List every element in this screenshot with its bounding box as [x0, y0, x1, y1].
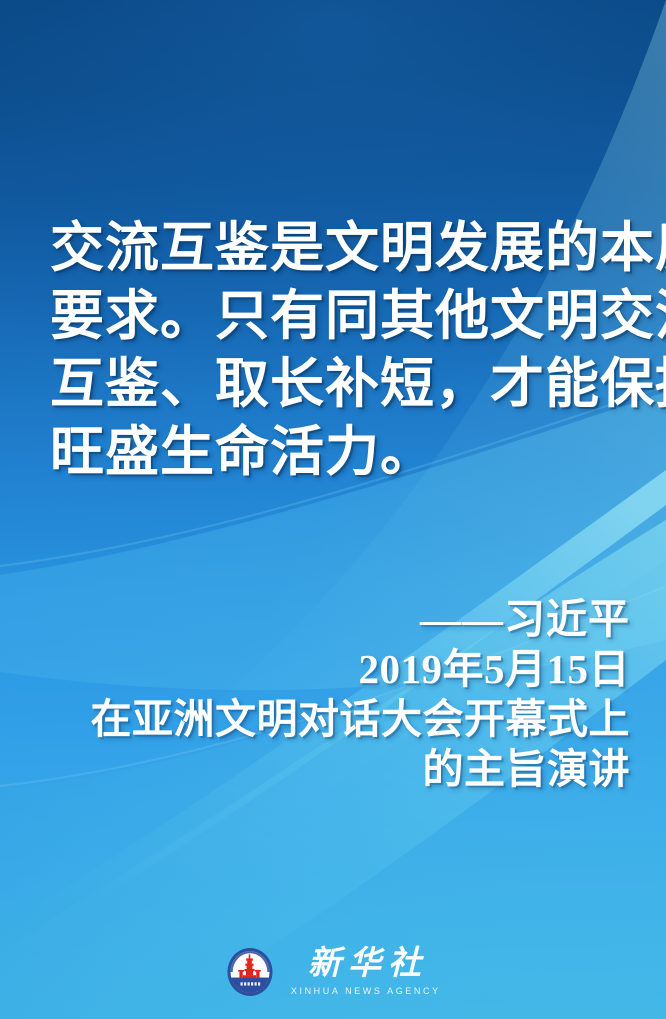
attribution-occasion: 在亚洲文明对话大会开幕式上 [30, 694, 630, 744]
attribution-occasion-cont: 的主旨演讲 [30, 744, 630, 794]
logo-name-cn: 新华社 [301, 948, 428, 981]
quote-line-4: 旺盛生命活力。 [50, 418, 630, 486]
background-waves [0, 0, 666, 1019]
attribution-author: ——习近平 [30, 594, 630, 644]
xinhua-wordmark: 新华社 XINHUA NEWS AGENCY [288, 948, 440, 996]
quote-line-3: 互鉴、取长补短，才能保持 [50, 350, 630, 418]
quote-line-2: 要求。只有同其他文明交流 [50, 282, 630, 350]
attribution-block: ——习近平 2019年5月15日 在亚洲文明对话大会开幕式上 的主旨演讲 [30, 594, 630, 794]
attribution-date: 2019年5月15日 [30, 644, 630, 694]
logo-name-en: XINHUA NEWS AGENCY [288, 987, 440, 996]
quote-text: 交流互鉴是文明发展的本质 要求。只有同其他文明交流 互鉴、取长补短，才能保持 旺… [50, 214, 630, 486]
quote-line-1: 交流互鉴是文明发展的本质 [50, 214, 630, 282]
xinhua-logo: 新华社 XINHUA NEWS AGENCY [0, 947, 666, 997]
xinhua-pagoda-emblem-icon [225, 947, 275, 997]
quote-poster: 交流互鉴是文明发展的本质 要求。只有同其他文明交流 互鉴、取长补短，才能保持 旺… [0, 0, 666, 1019]
